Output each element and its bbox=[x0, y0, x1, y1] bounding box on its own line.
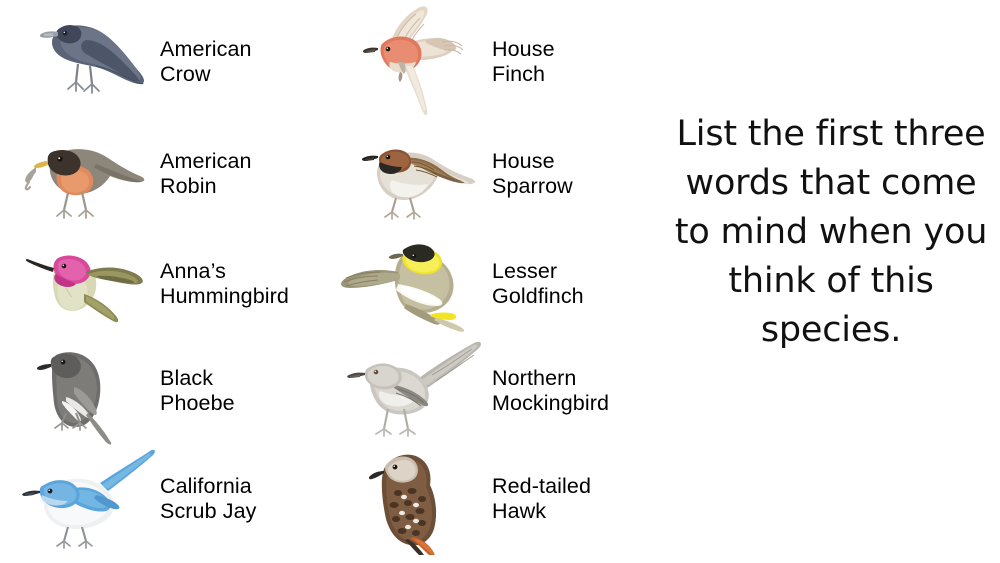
species-item-red-tailed-hawk[interactable]: Red-tailed Hawk bbox=[332, 443, 662, 555]
species-label: Northern Mockingbird bbox=[490, 366, 662, 416]
annas-hummingbird-icon bbox=[0, 228, 158, 340]
prompt-instruction-text: List the first three words that come to … bbox=[668, 110, 994, 355]
slide-canvas: American Crow bbox=[0, 0, 1000, 563]
species-item-annas-hummingbird[interactable]: Anna’s Hummingbird bbox=[0, 228, 330, 340]
species-label: Red-tailed Hawk bbox=[490, 474, 662, 524]
species-item-lesser-goldfinch[interactable]: Lesser Goldfinch bbox=[332, 228, 662, 340]
lesser-goldfinch-icon bbox=[332, 228, 490, 340]
species-item-american-robin[interactable]: American Robin bbox=[0, 118, 330, 230]
species-label: California Scrub Jay bbox=[158, 474, 330, 524]
california-scrub-jay-icon bbox=[0, 443, 158, 555]
species-item-northern-mockingbird[interactable]: Northern Mockingbird bbox=[332, 335, 662, 447]
species-grid: American Crow bbox=[0, 0, 665, 563]
american-crow-icon bbox=[0, 6, 158, 118]
species-item-black-phoebe[interactable]: Black Phoebe bbox=[0, 335, 330, 447]
species-item-california-scrub-jay[interactable]: California Scrub Jay bbox=[0, 443, 330, 555]
prompt-panel: List the first three words that come to … bbox=[668, 110, 994, 355]
species-label: Anna’s Hummingbird bbox=[158, 259, 330, 309]
house-sparrow-icon bbox=[332, 118, 490, 230]
black-phoebe-icon bbox=[0, 335, 158, 447]
species-item-house-finch[interactable]: House Finch bbox=[332, 6, 662, 118]
red-tailed-hawk-icon bbox=[332, 443, 490, 555]
species-item-american-crow[interactable]: American Crow bbox=[0, 6, 330, 118]
species-label: American Crow bbox=[158, 37, 330, 87]
species-label: Black Phoebe bbox=[158, 366, 330, 416]
species-label: Lesser Goldfinch bbox=[490, 259, 662, 309]
house-finch-icon bbox=[332, 6, 490, 118]
species-item-house-sparrow[interactable]: House Sparrow bbox=[332, 118, 662, 230]
species-column-middle: House Finch bbox=[332, 0, 662, 563]
species-column-left: American Crow bbox=[0, 0, 330, 563]
species-label: House Sparrow bbox=[490, 149, 662, 199]
species-label: House Finch bbox=[490, 37, 662, 87]
northern-mockingbird-icon bbox=[332, 335, 490, 447]
american-robin-icon bbox=[0, 118, 158, 230]
species-label: American Robin bbox=[158, 149, 330, 199]
